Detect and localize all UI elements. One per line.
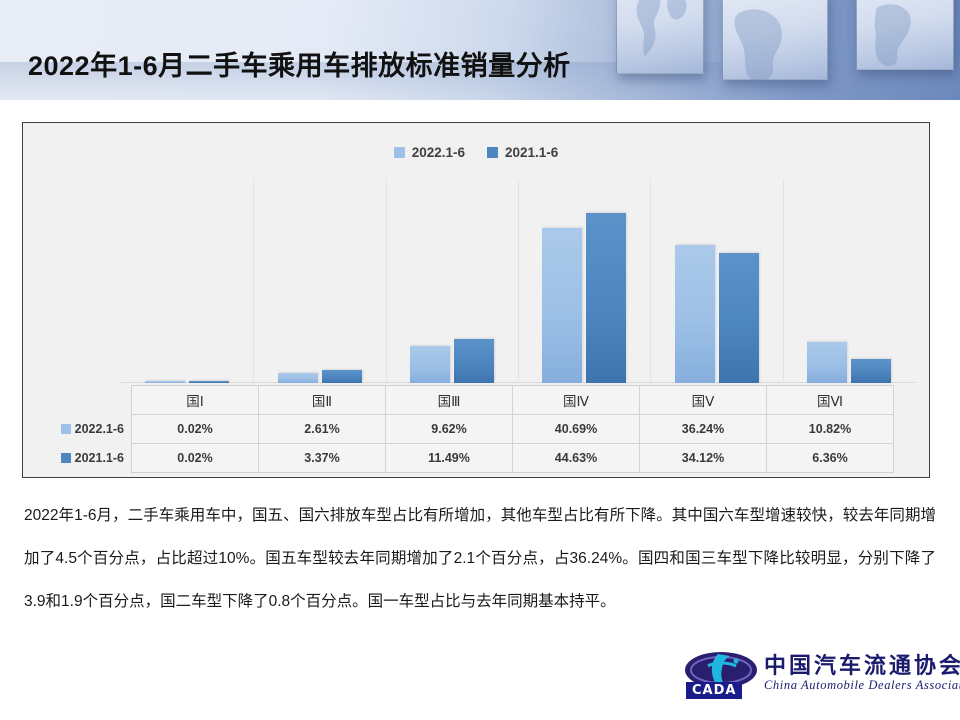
table-cell: 11.49%: [386, 444, 513, 473]
chart-bar-20211-6-国Ⅵ: [851, 359, 891, 383]
legend-label-2021: 2021.1-6: [505, 145, 558, 160]
table-cell: 36.24%: [640, 415, 767, 444]
table-row: 2021.1-6 0.02% 3.37% 11.49% 44.63% 34.12…: [41, 444, 894, 473]
decorative-cube-icon: [616, 0, 704, 74]
legend-swatch-2021: [487, 147, 498, 158]
chart-bar-20211-6-国Ⅳ: [586, 213, 626, 383]
legend-label-2022: 2022.1-6: [412, 145, 465, 160]
chart-plot-area: [25, 179, 929, 383]
legend-swatch-2022: [394, 147, 405, 158]
chart-bar-20211-6-国Ⅲ: [454, 339, 494, 383]
chart-bar-20221-6-国Ⅲ: [410, 346, 450, 383]
cada-abbr: CADA: [686, 682, 742, 699]
table-cell: 0.02%: [132, 444, 259, 473]
table-cell: 9.62%: [386, 415, 513, 444]
table-cell: 6.36%: [767, 444, 894, 473]
table-header-guo6: 国Ⅵ: [767, 386, 894, 415]
chart-gridline: [253, 179, 254, 383]
chart-legend: 2022.1-6 2021.1-6: [23, 145, 929, 160]
decorative-cube-icon: [722, 0, 828, 80]
table-row-label-text: 2022.1-6: [75, 422, 124, 436]
table-cell: 2.61%: [259, 415, 386, 444]
chart-bar-20221-6-国Ⅵ: [807, 342, 847, 383]
world-map-texture-icon: [857, 0, 953, 81]
chart-data-table: 国Ⅰ 国Ⅱ 国Ⅲ 国Ⅳ 国Ⅴ 国Ⅵ 2022.1-6 0.02% 2.61% 9…: [41, 385, 894, 473]
chart-gridline: [386, 179, 387, 383]
table-header-row: 国Ⅰ 国Ⅱ 国Ⅲ 国Ⅳ 国Ⅴ 国Ⅵ: [41, 386, 894, 415]
chart-gridline: [518, 179, 519, 383]
cada-en-name: China Automobile Dealers Association: [764, 678, 960, 693]
table-cell: 0.02%: [132, 415, 259, 444]
table-cell: 44.63%: [513, 444, 640, 473]
cada-cn-name: 中国汽车流通协会: [764, 648, 960, 680]
table-corner-cell: [41, 386, 132, 415]
table-header-guo4: 国Ⅳ: [513, 386, 640, 415]
world-map-texture-icon: [723, 0, 827, 97]
table-swatch-2022: [61, 424, 71, 434]
table-cell: 40.69%: [513, 415, 640, 444]
chart-gridline: [783, 179, 784, 383]
table-row-label-2021: 2021.1-6: [41, 444, 132, 473]
table-row: 2022.1-6 0.02% 2.61% 9.62% 40.69% 36.24%…: [41, 415, 894, 444]
chart-panel: 2022.1-6 2021.1-6 国Ⅰ 国Ⅱ 国Ⅲ 国Ⅳ 国Ⅴ 国Ⅵ 2022…: [22, 122, 930, 478]
chart-bar-20211-6-国Ⅰ: [189, 381, 229, 383]
chart-bar-20211-6-国Ⅴ: [719, 253, 759, 383]
chart-bar-20221-6-国Ⅰ: [145, 381, 185, 383]
table-swatch-2021: [61, 453, 71, 463]
table-header-guo1: 国Ⅰ: [132, 386, 259, 415]
page-header: 2022年1-6月二手车乘用车排放标准销量分析: [0, 0, 960, 100]
chart-bar-20221-6-国Ⅱ: [278, 373, 318, 383]
world-map-texture-icon: [617, 0, 703, 67]
table-row-label-2022: 2022.1-6: [41, 415, 132, 444]
chart-gridline: [650, 179, 651, 383]
chart-bar-20211-6-国Ⅱ: [322, 370, 362, 383]
analysis-paragraph: 2022年1-6月，二手车乘用车中，国五、国六排放车型占比有所增加，其他车型占比…: [24, 494, 936, 623]
cada-logo: CADA 中国汽车流通协会 China Automobile Dealers A…: [684, 648, 940, 712]
decorative-cube-icon: [856, 0, 954, 70]
table-header-guo2: 国Ⅱ: [259, 386, 386, 415]
page-title: 2022年1-6月二手车乘用车排放标准销量分析: [28, 44, 571, 83]
chart-bar-20221-6-国Ⅳ: [542, 228, 582, 383]
table-row-label-text: 2021.1-6: [75, 451, 124, 465]
table-cell: 10.82%: [767, 415, 894, 444]
table-cell: 3.37%: [259, 444, 386, 473]
legend-item-2022: 2022.1-6: [394, 145, 465, 160]
table-cell: 34.12%: [640, 444, 767, 473]
chart-bar-20221-6-国Ⅴ: [675, 245, 715, 383]
legend-item-2021: 2021.1-6: [487, 145, 558, 160]
table-header-guo3: 国Ⅲ: [386, 386, 513, 415]
table-header-guo5: 国Ⅴ: [640, 386, 767, 415]
